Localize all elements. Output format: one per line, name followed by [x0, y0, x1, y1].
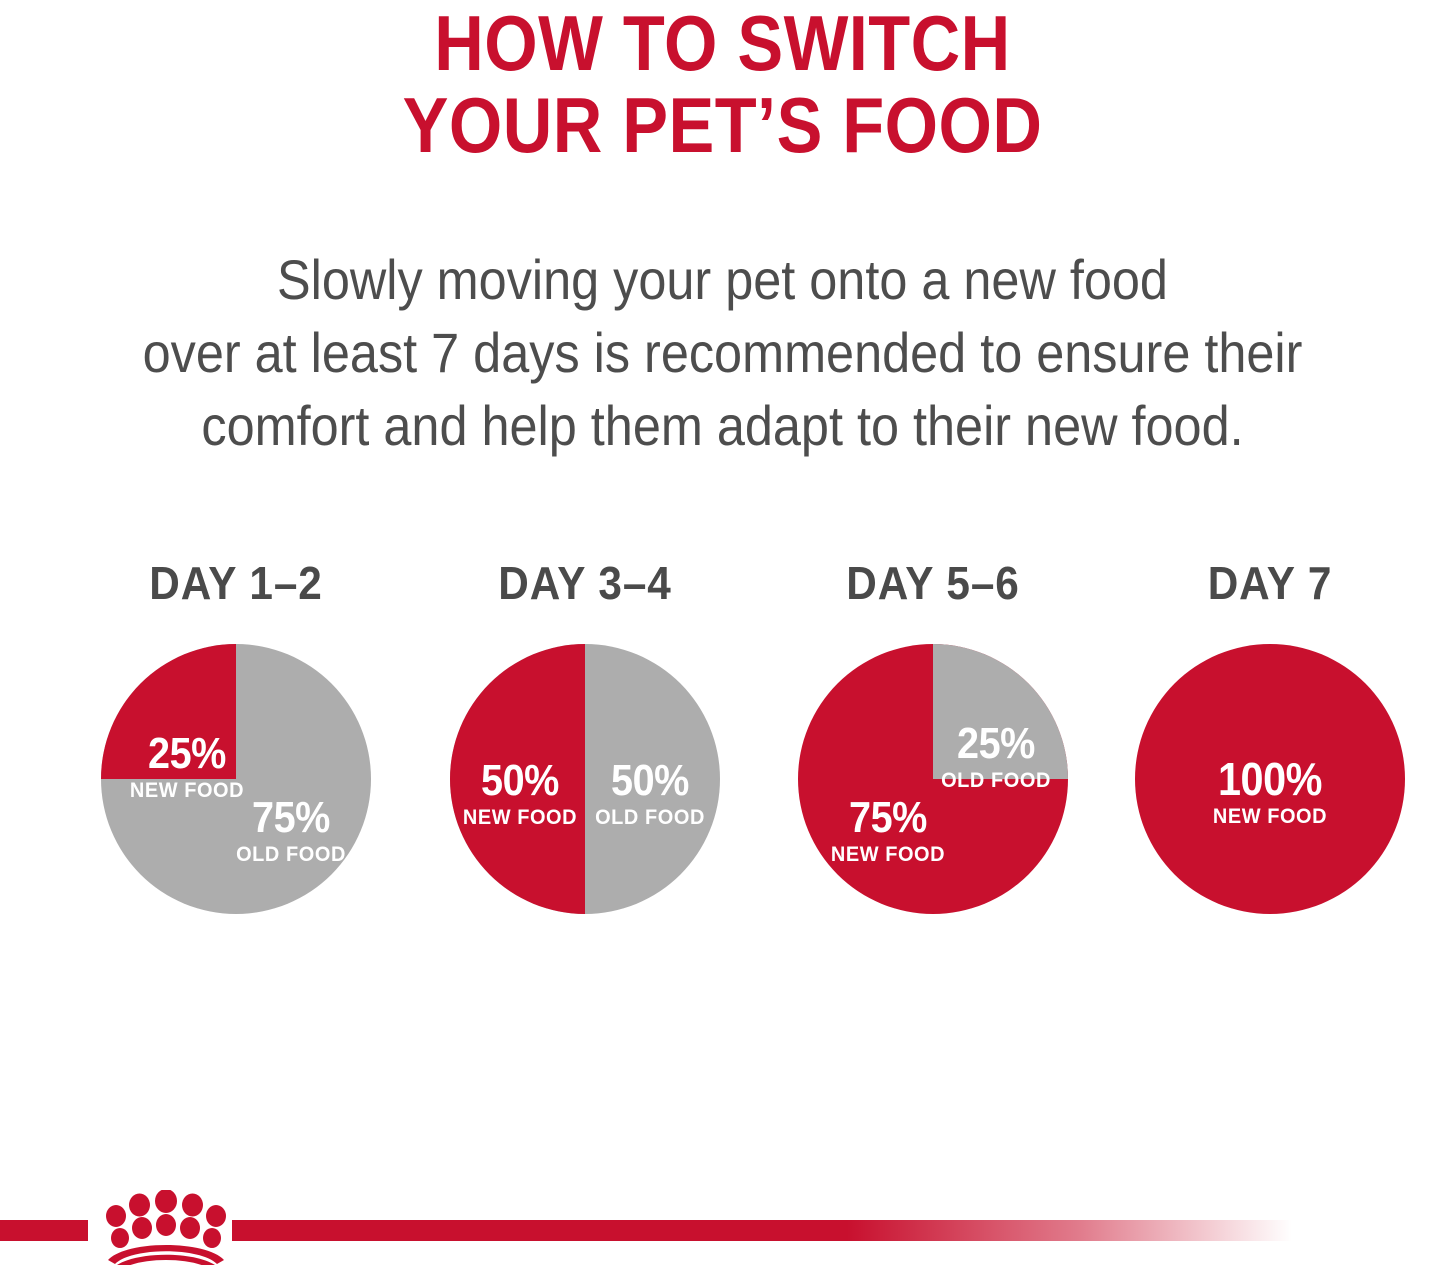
day-label-1: DAY 1–2 [98, 560, 374, 606]
page-title-line-1: HOW TO SWITCH [87, 2, 1359, 84]
pie-chart-day-1-2: 25% NEW FOOD 75% OLD FOOD [101, 644, 371, 914]
page-subtitle-line-3: comfort and help them adapt to their new… [72, 389, 1373, 462]
pie-chart-day-7: 100% NEW FOOD [1135, 644, 1405, 914]
pie-chart-row: DAY 1–2 25% NEW FOOD 75% OLD FOOD DAY 3–… [0, 560, 1445, 960]
footer-bar-left [0, 1220, 88, 1241]
page-title-line-2: YOUR PET’S FOOD [87, 84, 1359, 166]
pie-slice-old-food [933, 644, 1068, 779]
page-subtitle-line-2: over at least 7 days is recommended to e… [72, 316, 1373, 389]
day-label-2: DAY 3–4 [447, 560, 723, 606]
pie-svg-day-7 [1135, 644, 1405, 914]
pie-slice-new-food [101, 644, 236, 779]
day-label-4: DAY 7 [1132, 560, 1408, 606]
pie-group-day-7: DAY 7 100% NEW FOOD [1120, 560, 1420, 914]
footer-bar-right [232, 1220, 1292, 1241]
footer-brand-band [0, 1190, 1445, 1265]
pie-group-day-3-4: DAY 3–4 50% NEW FOOD 50% OLD FOOD [435, 560, 735, 914]
pie-svg-day-3-4 [450, 644, 720, 914]
page-title: HOW TO SWITCH YOUR PET’S FOOD [87, 2, 1359, 166]
pie-slice-new-food [1135, 644, 1405, 914]
pie-svg-day-5-6 [798, 644, 1068, 914]
page-subtitle-line-1: Slowly moving your pet onto a new food [72, 243, 1373, 316]
pie-svg-day-1-2 [101, 644, 371, 914]
page-subtitle: Slowly moving your pet onto a new food o… [72, 243, 1373, 462]
pie-chart-day-5-6: 25% OLD FOOD 75% NEW FOOD [798, 644, 1068, 914]
pie-group-day-1-2: DAY 1–2 25% NEW FOOD 75% OLD FOOD [86, 560, 386, 914]
pie-chart-day-3-4: 50% NEW FOOD 50% OLD FOOD [450, 644, 720, 914]
royal-canin-crown-icon [96, 1190, 236, 1265]
day-label-3: DAY 5–6 [795, 560, 1071, 606]
pie-slice-new-food [450, 644, 585, 914]
pie-group-day-5-6: DAY 5–6 25% OLD FOOD 75% NEW FOOD [783, 560, 1083, 914]
